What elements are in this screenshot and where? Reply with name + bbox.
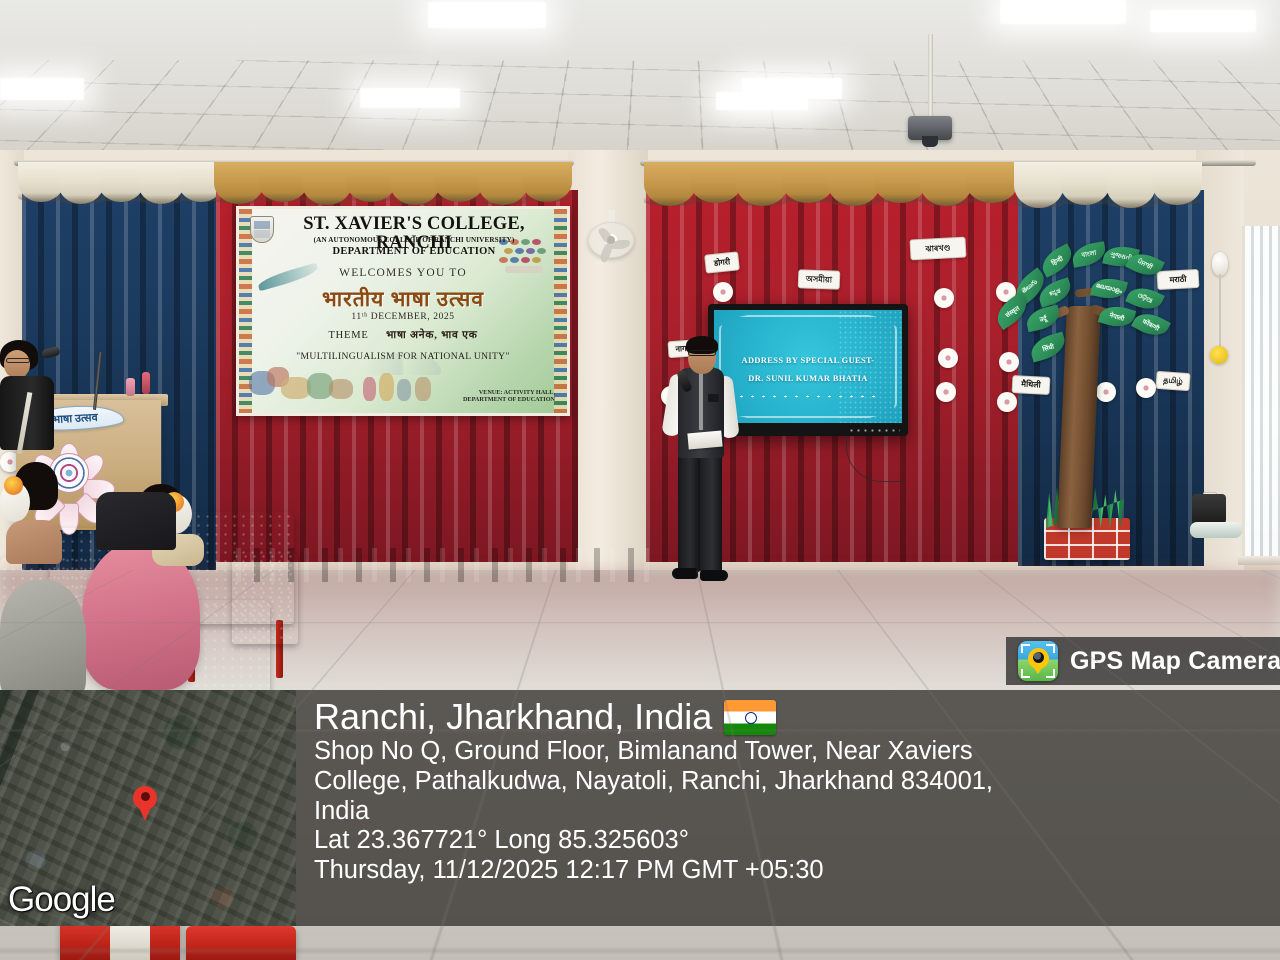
- valance-swag: [214, 162, 264, 204]
- valance-swag: [690, 162, 742, 203]
- slide-line-2: DR. SUNIL KUMAR BHATIA: [714, 374, 902, 383]
- icon-corner: [1021, 644, 1030, 653]
- gps-place-row: Ranchi, Jharkhand, India: [314, 698, 1264, 737]
- banner-event-date: 11ᵗʰ DECEMBER, 2025: [253, 312, 553, 322]
- valance-swag: [478, 162, 528, 205]
- banner-event-title-hindi: भारतीय भाषा उत्सव: [253, 285, 553, 313]
- hanging-decoration-string: [1219, 274, 1221, 348]
- valance-swag: [346, 162, 396, 202]
- india-flag-icon: [724, 700, 776, 735]
- icon-corner: [1046, 644, 1055, 653]
- valance-cream-right: [1014, 162, 1208, 210]
- slide-line-1: ADDRESS BY SPECIAL GUEST-: [714, 356, 902, 365]
- gps-info-overlay: Google Ranchi, Jharkhand, India Shop No …: [0, 690, 1280, 926]
- screenshot-root: ST. XAVIER'S COLLEGE, RANCHI (AN AUTONOM…: [0, 0, 1280, 960]
- valance-swag: [1106, 162, 1156, 208]
- gps-place-name: Ranchi, Jharkhand, India: [314, 698, 712, 737]
- paper-flower-icon: [938, 348, 958, 368]
- slide-dot-divider: [736, 394, 880, 399]
- audience-dark-garment: [96, 492, 176, 550]
- window-blinds-icon: [1242, 226, 1280, 556]
- presentation-display[interactable]: ADDRESS BY SPECIAL GUEST- DR. SUNIL KUMA…: [708, 304, 908, 436]
- gps-timestamp: Thursday, 11/12/2025 12:17 PM GMT +05:30: [314, 856, 1264, 886]
- icon-corner: [1046, 669, 1055, 678]
- gps-address-line-3: India: [314, 797, 1264, 827]
- valance-swag: [1014, 162, 1064, 208]
- valance-swag: [828, 162, 880, 206]
- valance-swag: [874, 162, 926, 203]
- paper-flower-icon: [999, 352, 1019, 372]
- valance-cream-left: [18, 162, 222, 206]
- banner-department: DEPARTMENT OF EDUCATION: [279, 246, 549, 257]
- presentation-screen: ADDRESS BY SPECIAL GUEST- DR. SUNIL KUMA…: [714, 310, 902, 423]
- paper-flower-icon: [936, 382, 956, 402]
- map-pin-icon: [133, 786, 157, 810]
- speaker-glasses-icon: [688, 350, 716, 356]
- hanging-decoration-yellow: [1210, 346, 1228, 364]
- banner-folk-art-illustration: [245, 363, 445, 409]
- banner-theme-label: THEME: [328, 330, 368, 341]
- audience-shoulders: [6, 520, 62, 564]
- speaker-shirt-placket: [699, 370, 703, 430]
- gps-map-camera-badge: GPS Map Camera: [1006, 637, 1280, 685]
- vertical-blinds: [1245, 226, 1280, 556]
- ceiling: [0, 0, 1280, 172]
- valance-swag: [644, 162, 696, 206]
- ceiling-light-panel: [428, 2, 546, 28]
- equipment-bag: [1192, 494, 1226, 524]
- paper-flower-icon: [997, 392, 1017, 412]
- host-glasses-icon: [6, 358, 30, 363]
- speaker-held-paper: [687, 431, 722, 450]
- stage-curtain-skirt: [236, 548, 656, 582]
- speaker-shoe-left: [672, 568, 698, 579]
- hanging-decoration-white: [1212, 252, 1228, 276]
- language-cutout: ঝাৰখণ্ড: [909, 237, 966, 261]
- gps-address-line-1: Shop No Q, Ground Floor, Bimlanand Tower…: [314, 737, 1264, 767]
- speaker-leg-left: [678, 454, 700, 572]
- audience-member-back-left: [0, 448, 66, 558]
- language-cutout: मराठी: [1157, 269, 1200, 290]
- language-cutout: डोगरी: [704, 251, 740, 273]
- language-cutout: தமிழ்: [1155, 371, 1190, 391]
- banner-affiliation: (AN AUTONOMOUS COLLEGE OF RANCHI UNIVERS…: [279, 236, 549, 244]
- grey-garment: [0, 580, 86, 700]
- tv-control-panel[interactable]: [848, 427, 900, 434]
- valance-gold-right: [644, 162, 1018, 208]
- valance-swag: [782, 162, 834, 203]
- ceiling-light-panel: [360, 88, 460, 108]
- pin-tip: [1032, 665, 1044, 674]
- valance-swag: [522, 162, 572, 202]
- paper-flower-icon: [713, 282, 733, 302]
- language-cutout: অসমীয়া: [798, 269, 841, 289]
- event-banner: ST. XAVIER'S COLLEGE, RANCHI (AN AUTONOM…: [236, 206, 570, 416]
- ceiling-light-panel: [716, 92, 808, 110]
- host-head: [4, 350, 30, 378]
- language-cutout: मैथिली: [1012, 375, 1051, 395]
- valance-swag: [1060, 162, 1110, 205]
- foreground-paper: [110, 922, 150, 960]
- wall-fan-icon: [588, 222, 634, 258]
- paper-flower-icon: [1136, 378, 1156, 398]
- gps-app-name: GPS Map Camera: [1070, 647, 1280, 676]
- valance-swag: [302, 162, 352, 205]
- valance-gold-left: [214, 162, 578, 206]
- valance-swag: [920, 162, 972, 206]
- chair-foreground[interactable]: [186, 926, 296, 960]
- projector-mount-rod: [928, 34, 933, 120]
- paper-flower-icon: [934, 288, 954, 308]
- ceiling-light-panel: [1150, 10, 1256, 32]
- podium-item-pink: [126, 378, 135, 396]
- podium-item-red: [142, 372, 150, 394]
- google-watermark: Google: [8, 880, 115, 920]
- audience-member-dark-top: [96, 492, 176, 552]
- valance-swag: [736, 162, 788, 206]
- map-thumbnail[interactable]: Google: [0, 690, 296, 926]
- paper-flower-icon: [1096, 382, 1116, 402]
- valance-swag: [258, 162, 308, 202]
- banner-venue-line-2: DEPARTMENT OF EDUCATION: [463, 396, 555, 404]
- banner-venue-block: VENUE: ACTIVITY HALL, DEPARTMENT OF EDUC…: [463, 389, 555, 405]
- audience-member-left-grey: [0, 580, 88, 700]
- speaker-leg-right: [700, 454, 722, 572]
- slide-ornament-border: [719, 315, 897, 418]
- gps-text-block: Ranchi, Jharkhand, India Shop No Q, Grou…: [296, 690, 1280, 926]
- banner-venue-line-1: VENUE: ACTIVITY HALL,: [463, 389, 555, 397]
- projector-lens-icon: [922, 136, 938, 147]
- floor-equipment: [1190, 522, 1242, 538]
- gps-coordinates: Lat 23.367721° Long 85.325603°: [314, 826, 1264, 856]
- gps-camera-icon: [1018, 641, 1058, 681]
- banner-welcome-text: WELCOMES YOU TO: [253, 267, 553, 279]
- valance-swag: [1152, 162, 1202, 205]
- college-crest-icon: [250, 216, 274, 243]
- speaker-man-at-microphone: [666, 336, 738, 598]
- chair[interactable]: [232, 552, 298, 644]
- ceiling-light-panel: [1000, 0, 1126, 24]
- speaker-shoe-right: [700, 570, 728, 581]
- pin-dot: [141, 792, 150, 801]
- fan-hub: [607, 236, 615, 244]
- valance-swag: [390, 162, 440, 205]
- hair-flower-orange: [4, 476, 23, 495]
- valance-swag: [966, 162, 1018, 203]
- ceiling-light-panel: [0, 78, 84, 100]
- banner-theme-hindi: भाषा अनेक, भाव एक: [386, 330, 478, 341]
- gps-address-line-2: College, Pathalkudwa, Nayatoli, Ranchi, …: [314, 767, 1264, 797]
- window-sill: [1238, 556, 1280, 565]
- speaker-vest-pocket: [708, 394, 719, 402]
- valance-swag: [434, 162, 484, 202]
- icon-corner: [1021, 669, 1030, 678]
- banner-border-right: [554, 209, 567, 413]
